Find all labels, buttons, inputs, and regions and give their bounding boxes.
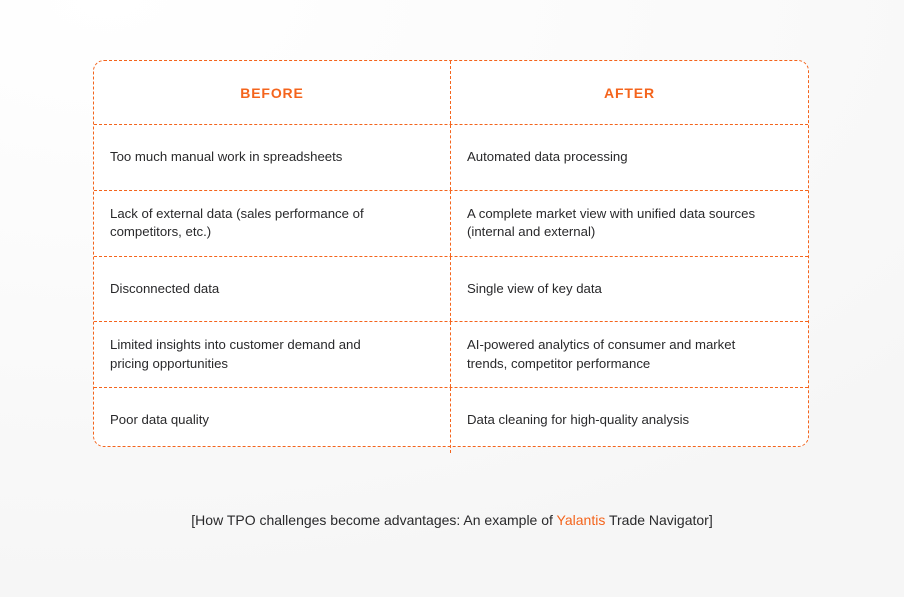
cell-after: Data cleaning for high-quality analysis [451,388,808,453]
cell-after-text: Single view of key data [467,280,602,299]
cell-after: AI-powered analytics of consumer and mar… [451,322,808,387]
column-header-after: AFTER [451,61,808,124]
figure-caption: [How TPO challenges become advantages: A… [0,509,904,531]
column-header-before: BEFORE [94,61,451,124]
cell-after-text: AI-powered analytics of consumer and mar… [467,336,735,373]
cell-after-text: Data cleaning for high-quality analysis [467,411,689,430]
cell-before: Poor data quality [94,388,451,453]
table-row: Poor data quality Data cleaning for high… [94,388,808,453]
cell-after: A complete market view with unified data… [451,191,808,256]
cell-before-text: Too much manual work in spreadsheets [110,148,342,167]
cell-before-text: Limited insights into customer demand an… [110,336,361,373]
column-header-after-label: AFTER [604,86,655,100]
cell-before: Disconnected data [94,257,451,322]
before-after-comparison-table: BEFORE AFTER Too much manual work in spr… [93,60,809,447]
cell-before-text: Lack of external data (sales performance… [110,205,364,242]
cell-after-text: A complete market view with unified data… [467,205,755,242]
cell-before: Limited insights into customer demand an… [94,322,451,387]
cell-before-text: Disconnected data [110,280,219,299]
cell-before: Lack of external data (sales performance… [94,191,451,256]
table-row: Lack of external data (sales performance… [94,191,808,257]
cell-before-text: Poor data quality [110,411,209,430]
caption-prefix: [How TPO challenges become advantages: A… [191,512,556,528]
table-row: Too much manual work in spreadsheets Aut… [94,125,808,191]
table-row: Disconnected data Single view of key dat… [94,257,808,323]
table-header-row: BEFORE AFTER [94,61,808,125]
table-row: Limited insights into customer demand an… [94,322,808,388]
cell-after: Automated data processing [451,125,808,190]
column-header-before-label: BEFORE [240,86,303,100]
cell-before: Too much manual work in spreadsheets [94,125,451,190]
cell-after-text: Automated data processing [467,148,628,167]
cell-after: Single view of key data [451,257,808,322]
page-canvas: BEFORE AFTER Too much manual work in spr… [0,0,904,597]
caption-suffix: Trade Navigator] [605,512,712,528]
caption-brand-link[interactable]: Yalantis [557,512,606,528]
